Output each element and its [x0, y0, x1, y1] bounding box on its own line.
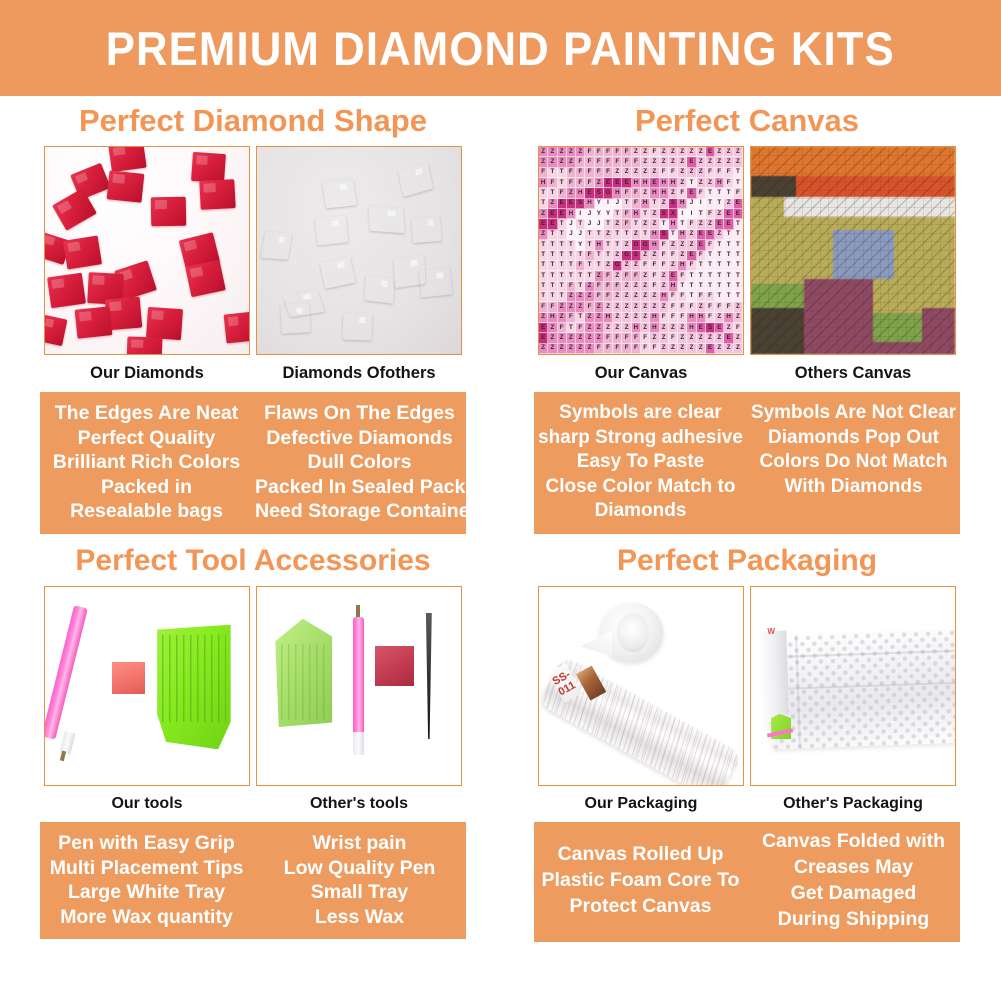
canvas-symbol-cell: F: [632, 271, 641, 281]
canvas-symbol-cell: T: [715, 271, 724, 281]
canvas-symbol-cell: T: [734, 230, 743, 240]
canvas-symbol-cell: E: [706, 344, 715, 354]
canvas-symbol-cell: Z: [613, 323, 622, 333]
canvas-symbol-cell: F: [660, 168, 669, 178]
feature-line: Canvas Folded with: [749, 828, 958, 854]
canvas-symbol-cell: T: [604, 240, 613, 250]
canvas-symbol-cell: F: [706, 302, 715, 312]
feature-line: Easy To Paste: [536, 450, 745, 475]
canvas-symbol-cell: E: [539, 333, 548, 343]
canvas-symbol-cell: H: [687, 323, 696, 333]
canvas-symbol-cell: T: [734, 292, 743, 302]
canvas-symbol-cell: Z: [706, 157, 715, 167]
canvas-symbol-cell: Z: [548, 199, 557, 209]
canvas-symbol-cell: T: [548, 240, 557, 250]
canvas-symbol-cell: F: [595, 282, 604, 292]
feature-line: Diamonds Pop Out: [749, 426, 958, 451]
canvas-symbol-cell: F: [697, 188, 706, 198]
canvas-symbol-cell: F: [650, 282, 659, 292]
canvas-symbol-cell: H: [632, 178, 641, 188]
canvas-symbol-cell: Z: [687, 333, 696, 343]
feature-line: Packed In Sealed Packets: [255, 475, 464, 500]
canvas-symbol-cell: E: [687, 157, 696, 167]
canvas-symbol-cell: F: [595, 147, 604, 157]
canvas-symbol-cell: Z: [660, 344, 669, 354]
canvas-symbol-cell: H: [567, 209, 576, 219]
canvas-symbol-cell: H: [660, 188, 669, 198]
our-diamonds-photo: [44, 146, 250, 355]
canvas-symbol-cell: Y: [595, 199, 604, 209]
canvas-symbol-cell: Z: [585, 282, 594, 292]
canvas-symbol-cell: F: [715, 168, 724, 178]
canvas-symbol-cell: T: [558, 261, 567, 271]
canvas-symbol-cell: T: [687, 292, 696, 302]
caption-our-packaging: Our Packaging: [538, 795, 744, 813]
canvas-symbol-cell: T: [660, 219, 669, 229]
canvas-symbol-cell: F: [706, 209, 715, 219]
canvas-symbol-cell: Z: [734, 313, 743, 323]
caption-others-canvas: Others Canvas: [750, 364, 956, 383]
canvas-symbol-cell: T: [548, 168, 557, 178]
canvas-symbol-cell: Z: [632, 302, 641, 312]
canvas-symbol-cell: Z: [660, 147, 669, 157]
canvas-symbol-cell: I: [687, 209, 696, 219]
canvas-symbol-cell: T: [734, 178, 743, 188]
canvas-symbol-cell: J: [567, 230, 576, 240]
canvas-symbol-cell: T: [715, 292, 724, 302]
canvas-symbol-cell: Z: [567, 302, 576, 312]
canvas-symbol-cell: F: [641, 344, 650, 354]
canvas-symbol-cell: F: [669, 302, 678, 312]
canvas-symbol-cell: E: [687, 251, 696, 261]
canvas-symbol-cell: E: [558, 209, 567, 219]
canvas-symbol-cell: H: [678, 261, 687, 271]
feature-line: With Diamonds: [749, 475, 958, 500]
photo-captions-diamond-shape: Our Diamonds Diamonds Ofothers: [8, 364, 498, 383]
canvas-symbol-cell: Z: [715, 313, 724, 323]
canvas-symbol-cell: X: [669, 209, 678, 219]
canvas-symbol-cell: Z: [585, 344, 594, 354]
canvas-symbol-cell: Z: [697, 333, 706, 343]
canvas-symbol-cell: Z: [622, 292, 631, 302]
canvas-symbol-cell: Z: [576, 333, 585, 343]
canvas-symbol-cell: Z: [622, 168, 631, 178]
canvas-symbol-cell: H: [678, 199, 687, 209]
section-title-tool-accessories: Perfect Tool Accessories: [8, 536, 498, 586]
canvas-symbol-cell: Z: [734, 344, 743, 354]
canvas-symbol-cell: S: [669, 199, 678, 209]
canvas-symbol-cell: Z: [604, 302, 613, 312]
feature-line: Pen with Easy Grip: [42, 831, 251, 856]
canvas-symbol-cell: Z: [715, 209, 724, 219]
canvas-symbol-cell: F: [613, 282, 622, 292]
canvas-symbol-cell: Z: [734, 157, 743, 167]
canvas-symbol-cell: T: [734, 282, 743, 292]
canvas-symbol-cell: Z: [539, 157, 548, 167]
canvas-symbol-cell: F: [548, 302, 557, 312]
canvas-symbol-cell: Z: [669, 188, 678, 198]
canvas-symbol-cell: T: [558, 271, 567, 281]
canvas-symbol-cell: H: [613, 188, 622, 198]
canvas-symbol-cell: T: [548, 188, 557, 198]
canvas-symbol-cell: Z: [687, 230, 696, 240]
caption-our-diamonds: Our Diamonds: [44, 364, 250, 383]
canvas-symbol-cell: T: [641, 230, 650, 240]
canvas-symbol-cell: Z: [678, 157, 687, 167]
canvas-symbol-cell: Z: [715, 147, 724, 157]
canvas-symbol-cell: Z: [641, 219, 650, 229]
canvas-symbol-cell: T: [622, 199, 631, 209]
canvas-symbol-cell: T: [697, 282, 706, 292]
canvas-symbol-cell: H: [604, 313, 613, 323]
photo-pair-tools: [8, 586, 498, 786]
canvas-symbol-cell: T: [558, 282, 567, 292]
canvas-symbol-cell: Z: [650, 333, 659, 343]
canvas-symbol-cell: T: [558, 178, 567, 188]
canvas-symbol-cell: T: [724, 251, 733, 261]
canvas-symbol-cell: F: [669, 313, 678, 323]
canvas-symbol-cell: T: [585, 240, 594, 250]
canvas-symbol-cell: F: [734, 323, 743, 333]
canvas-symbol-cell: F: [585, 251, 594, 261]
canvas-symbol-cell: F: [678, 292, 687, 302]
canvas-symbol-cell: T: [641, 209, 650, 219]
section-canvas: Perfect Canvas ZZZZZFFFFFZZFZZZZZEZZZZZZ…: [502, 96, 992, 534]
canvas-symbol-cell: E: [558, 199, 567, 209]
canvas-symbol-cell: T: [734, 219, 743, 229]
canvas-symbol-cell: F: [669, 333, 678, 343]
canvas-symbol-cell: T: [585, 271, 594, 281]
canvas-symbol-cell: Z: [613, 168, 622, 178]
others-packaging-photo: W: [750, 586, 956, 786]
canvas-symbol-cell: Z: [641, 271, 650, 281]
canvas-symbol-cell: F: [567, 178, 576, 188]
canvas-symbol-cell: Z: [678, 178, 687, 188]
canvas-symbol-cell: S: [595, 188, 604, 198]
canvas-symbol-cell: Z: [678, 168, 687, 178]
canvas-symbol-cell: Y: [576, 240, 585, 250]
canvas-symbol-cell: T: [687, 282, 696, 292]
canvas-symbol-cell: T: [595, 230, 604, 240]
canvas-symbol-cell: T: [548, 261, 557, 271]
canvas-symbol-cell: Z: [585, 323, 594, 333]
canvas-symbol-cell: Z: [548, 147, 557, 157]
canvas-symbol-cell: Z: [697, 344, 706, 354]
canvas-symbol-cell: T: [706, 199, 715, 209]
canvas-symbol-cell: F: [539, 168, 548, 178]
canvas-symbol-cell: F: [632, 344, 641, 354]
canvas-symbol-cell: Z: [687, 147, 696, 157]
canvas-symbol-cell: Z: [641, 302, 650, 312]
feature-line: Perfect Quality: [42, 426, 251, 451]
canvas-symbol-cell: F: [660, 251, 669, 261]
canvas-symbol-cell: F: [604, 157, 613, 167]
canvas-symbol-cell: T: [539, 282, 548, 292]
canvas-symbol-cell: E: [567, 199, 576, 209]
canvas-symbol-cell: E: [687, 188, 696, 198]
canvas-symbol-cell: Z: [595, 323, 604, 333]
canvas-symbol-cell: Z: [558, 147, 567, 157]
canvas-symbol-cell: Z: [660, 157, 669, 167]
feature-line: During Shipping: [749, 906, 958, 932]
canvas-symbol-cell: H: [539, 178, 548, 188]
photo-captions-tools: Our tools Other's tools: [8, 795, 498, 813]
feature-box-tools: Pen with Easy Grip Multi Placement Tips …: [40, 822, 466, 939]
canvas-symbol-cell: Z: [687, 168, 696, 178]
canvas-symbol-cell: F: [622, 219, 631, 229]
canvas-symbol-cell: F: [567, 313, 576, 323]
canvas-symbol-cell: Z: [548, 344, 557, 354]
canvas-symbol-cell: G: [641, 240, 650, 250]
canvas-symbol-cell: T: [724, 188, 733, 198]
canvas-symbol-cell: Z: [604, 230, 613, 240]
canvas-symbol-cell: Z: [715, 333, 724, 343]
feature-line: Diamonds: [536, 499, 745, 524]
canvas-symbol-cell: Z: [706, 333, 715, 343]
canvas-symbol-cell: H: [715, 178, 724, 188]
canvas-symbol-cell: F: [678, 188, 687, 198]
canvas-symbol-cell: T: [576, 251, 585, 261]
canvas-symbol-cell: H: [548, 313, 557, 323]
canvas-symbol-cell: T: [734, 271, 743, 281]
canvas-symbol-cell: G: [613, 261, 622, 271]
canvas-symbol-cell: F: [595, 168, 604, 178]
canvas-symbol-cell: Z: [650, 219, 659, 229]
canvas-symbol-cell: Z: [660, 271, 669, 281]
canvas-symbol-cell: Z: [724, 199, 733, 209]
canvas-symbol-cell: I: [604, 199, 613, 209]
canvas-symbol-cell: E: [724, 333, 733, 343]
canvas-symbol-cell: F: [697, 251, 706, 261]
others-diamonds-photo: [256, 146, 462, 355]
canvas-symbol-cell: F: [604, 271, 613, 281]
canvas-symbol-cell: H: [650, 230, 659, 240]
canvas-symbol-cell: H: [650, 188, 659, 198]
canvas-symbol-cell: T: [697, 261, 706, 271]
canvas-symbol-cell: Z: [576, 147, 585, 157]
canvas-symbol-cell: F: [706, 240, 715, 250]
canvas-symbol-cell: F: [604, 147, 613, 157]
canvas-symbol-cell: T: [715, 188, 724, 198]
canvas-symbol-cell: T: [595, 261, 604, 271]
canvas-symbol-cell: F: [650, 344, 659, 354]
canvas-symbol-cell: F: [650, 261, 659, 271]
canvas-symbol-cell: Z: [548, 157, 557, 167]
canvas-symbol-cell: Z: [734, 147, 743, 157]
canvas-symbol-cell: T: [678, 219, 687, 229]
canvas-symbol-cell: F: [687, 219, 696, 229]
canvas-symbol-cell: Z: [595, 302, 604, 312]
canvas-symbol-cell: F: [678, 313, 687, 323]
canvas-symbol-cell: T: [715, 199, 724, 209]
canvas-symbol-cell: F: [632, 188, 641, 198]
section-diamond-shape: Perfect Diamond Shape: [8, 96, 498, 534]
canvas-symbol-cell: F: [604, 344, 613, 354]
canvas-symbol-cell: T: [539, 292, 548, 302]
canvas-symbol-cell: Z: [576, 292, 585, 302]
feature-line: Resealable bags: [42, 499, 251, 524]
canvas-symbol-cell: Z: [724, 147, 733, 157]
canvas-symbol-cell: Z: [613, 251, 622, 261]
canvas-symbol-cell: Z: [622, 323, 631, 333]
canvas-symbol-cell: F: [687, 261, 696, 271]
canvas-symbol-cell: Z: [632, 313, 641, 323]
photo-pair-canvas: ZZZZZFFFFFZZFZZZZZEZZZZZZZFFFFFFFZZZZZEZ…: [502, 146, 992, 355]
canvas-symbol-cell: Z: [650, 209, 659, 219]
canvas-symbol-cell: Z: [641, 157, 650, 167]
caption-others-diamonds: Diamonds Ofothers: [256, 364, 462, 383]
canvas-symbol-cell: H: [595, 240, 604, 250]
canvas-symbol-cell: I: [678, 209, 687, 219]
canvas-symbol-cell: J: [576, 230, 585, 240]
canvas-symbol-cell: Z: [539, 230, 548, 240]
canvas-symbol-cell: T: [576, 313, 585, 323]
canvas-symbol-cell: T: [724, 282, 733, 292]
canvas-symbol-cell: H: [660, 178, 669, 188]
our-canvas-photo: ZZZZZFFFFFZZFZZZZZEZZZZZZZFFFFFFFZZZZZEZ…: [538, 146, 744, 355]
canvas-symbol-cell: T: [539, 188, 548, 198]
canvas-symbol-cell: F: [660, 261, 669, 271]
feature-line: Protect Canvas: [536, 893, 745, 919]
feature-line: Brilliant Rich Colors: [42, 450, 251, 475]
canvas-symbol-cell: Z: [697, 302, 706, 312]
canvas-symbol-cell: H: [669, 178, 678, 188]
canvas-symbol-cell: Z: [660, 323, 669, 333]
canvas-symbol-cell: G: [604, 188, 613, 198]
canvas-symbol-cell: Z: [567, 333, 576, 343]
canvas-symbol-cell: Z: [724, 323, 733, 333]
canvas-symbol-cell: Z: [650, 168, 659, 178]
feature-line: Close Color Match to: [536, 475, 745, 500]
canvas-symbol-cell: Z: [706, 178, 715, 188]
section-title-diamond-shape: Perfect Diamond Shape: [8, 96, 498, 146]
canvas-symbol-cell: Z: [567, 344, 576, 354]
canvas-symbol-cell: F: [678, 302, 687, 312]
others-tools-photo: [256, 586, 462, 786]
canvas-symbol-cell: E: [548, 209, 557, 219]
canvas-symbol-cell: F: [622, 147, 631, 157]
canvas-symbol-cell: T: [687, 271, 696, 281]
feature-line: Large White Tray: [42, 880, 251, 905]
canvas-symbol-cell: Z: [669, 261, 678, 271]
canvas-symbol-cell: E: [706, 230, 715, 240]
canvas-symbol-cell: Z: [539, 209, 548, 219]
our-tools-photo: [44, 586, 250, 786]
canvas-symbol-cell: Z: [678, 251, 687, 261]
canvas-symbol-cell: H: [576, 188, 585, 198]
canvas-symbol-cell: H: [650, 313, 659, 323]
canvas-symbol-cell: T: [697, 271, 706, 281]
photo-captions-packaging: Our Packaging Other's Packaging: [502, 795, 992, 813]
canvas-symbol-cell: T: [604, 219, 613, 229]
canvas-symbol-cell: T: [706, 188, 715, 198]
canvas-symbol-cell: Z: [734, 333, 743, 343]
canvas-symbol-cell: Z: [585, 333, 594, 343]
canvas-symbol-cell: E: [724, 219, 733, 229]
canvas-symbol-cell: Z: [613, 292, 622, 302]
canvas-symbol-cell: H: [650, 240, 659, 250]
canvas-symbol-cell: T: [613, 240, 622, 250]
canvas-symbol-cell: Z: [595, 333, 604, 343]
canvas-symbol-cell: F: [595, 292, 604, 302]
feature-col-ours-packaging: Canvas Rolled Up Plastic Foam Core To Pr…: [534, 841, 747, 919]
canvas-symbol-cell: Z: [678, 240, 687, 250]
canvas-symbol-cell: T: [669, 230, 678, 240]
feature-line: Symbols Are Not Clear: [749, 401, 958, 426]
canvas-symbol-cell: Z: [641, 323, 650, 333]
feature-line: Less Wax: [255, 905, 464, 930]
canvas-symbol-cell: Z: [595, 178, 604, 188]
canvas-symbol-cell: E: [715, 219, 724, 229]
feature-col-ours-canvas: Symbols are clear sharp Strong adhesive …: [534, 401, 747, 524]
canvas-symbol-cell: T: [585, 230, 594, 240]
canvas-symbol-cell: H: [641, 178, 650, 188]
caption-our-tools: Our tools: [44, 795, 250, 813]
canvas-symbol-cell: S: [660, 230, 669, 240]
canvas-symbol-cell: F: [576, 168, 585, 178]
canvas-symbol-cell: Z: [558, 157, 567, 167]
canvas-symbol-cell: Z: [622, 302, 631, 312]
canvas-symbol-cell: E: [669, 271, 678, 281]
canvas-symbol-cell: T: [687, 178, 696, 188]
canvas-symbol-cell: Z: [632, 282, 641, 292]
caption-others-tools: Other's tools: [256, 795, 462, 813]
feature-box-packaging: Canvas Rolled Up Plastic Foam Core To Pr…: [534, 822, 960, 942]
canvas-symbol-cell: Z: [697, 157, 706, 167]
canvas-symbol-cell: Z: [539, 313, 548, 323]
feature-box-canvas: Symbols are clear sharp Strong adhesive …: [534, 392, 960, 534]
canvas-symbol-cell: F: [548, 178, 557, 188]
canvas-symbol-cell: T: [706, 251, 715, 261]
canvas-symbol-cell: H: [669, 282, 678, 292]
canvas-symbol-cell: Z: [641, 313, 650, 323]
canvas-symbol-cell: Y: [604, 209, 613, 219]
canvas-symbol-cell: F: [585, 168, 594, 178]
canvas-symbol-cell: Z: [604, 323, 613, 333]
canvas-symbol-cell: F: [669, 168, 678, 178]
canvas-symbol-cell: T: [715, 251, 724, 261]
canvas-symbol-cell: F: [622, 271, 631, 281]
canvas-symbol-cell: F: [595, 157, 604, 167]
canvas-symbol-cell: S: [576, 199, 585, 209]
feature-line: Creases May: [749, 854, 958, 880]
canvas-symbol-cell: T: [724, 292, 733, 302]
canvas-symbol-cell: Z: [697, 178, 706, 188]
canvas-symbol-cell: T: [558, 240, 567, 250]
canvas-symbol-cell: F: [734, 188, 743, 198]
canvas-symbol-cell: F: [604, 168, 613, 178]
canvas-symbol-cell: Z: [687, 240, 696, 250]
canvas-symbol-cell: T: [539, 261, 548, 271]
canvas-symbol-cell: E: [585, 188, 594, 198]
canvas-symbol-cell: Z: [622, 261, 631, 271]
canvas-symbol-cell: Z: [706, 219, 715, 229]
canvas-symbol-cell: E: [697, 323, 706, 333]
canvas-symbol-cell: Z: [558, 313, 567, 323]
canvas-symbol-cell: Z: [613, 219, 622, 229]
canvas-symbol-cell: Z: [724, 344, 733, 354]
caption-our-canvas: Our Canvas: [538, 364, 744, 383]
canvas-symbol-cell: F: [622, 188, 631, 198]
canvas-symbol-cell: F: [678, 271, 687, 281]
canvas-symbol-cell: Z: [567, 188, 576, 198]
canvas-symbol-cell: T: [706, 261, 715, 271]
canvas-symbol-cell: E: [604, 178, 613, 188]
canvas-symbol-cell: Z: [613, 313, 622, 323]
feature-col-ours-tools: Pen with Easy Grip Multi Placement Tips …: [40, 831, 253, 929]
canvas-symbol-cell: T: [539, 199, 548, 209]
canvas-symbol-cell: T: [632, 219, 641, 229]
